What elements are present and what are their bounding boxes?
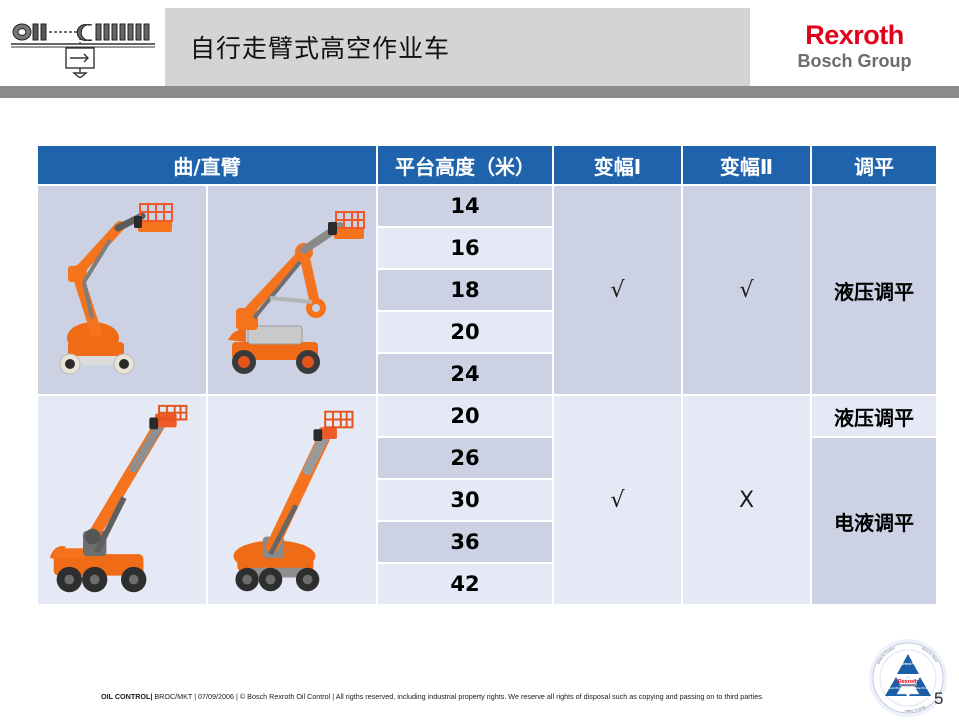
- oil-control-logo-box: [0, 8, 165, 86]
- column-header-luff2: 变幅Ⅱ: [683, 146, 810, 184]
- height-value: 36: [378, 522, 552, 562]
- column-header-luff1: 变幅Ⅰ: [554, 146, 681, 184]
- height-value: 20: [378, 312, 552, 352]
- column-header-arm: 曲/直臂: [38, 146, 376, 184]
- height-value: 26: [378, 438, 552, 478]
- height-value: 16: [378, 228, 552, 268]
- height-value: 42: [378, 564, 552, 604]
- machine-image-articulating-wheeled: [208, 186, 376, 394]
- leveling-value: 液压调平: [812, 396, 936, 436]
- height-value: 20: [378, 396, 552, 436]
- footer-bold-prefix: OIL CONTROL|: [101, 692, 152, 701]
- column-header-level: 调平: [812, 146, 936, 184]
- specification-table: 曲/直臂 平台高度（米） 变幅Ⅰ 变幅Ⅱ 调平: [36, 144, 938, 606]
- page-title: 自行走臂式高空作业车: [190, 8, 450, 86]
- header-under-strip: [0, 98, 959, 104]
- footer-body: BROC/MKT | 07/09/2006 | © Bosch Rexroth …: [152, 692, 763, 701]
- luff1-mark: √: [554, 186, 681, 394]
- oil-control-logo: [8, 16, 158, 78]
- column-header-height: 平台高度（米）: [378, 146, 552, 184]
- header-divider-bar: [0, 86, 959, 98]
- luff1-mark: √: [554, 396, 681, 604]
- machine-image-telescopic-tall: [208, 396, 376, 604]
- articulating-boom-lift-wheeled-illustration: [208, 190, 376, 390]
- footer-copyright: OIL CONTROL| BROC/MKT | 07/09/2006 | © B…: [101, 692, 771, 702]
- machine-image-telescopic-short: [38, 396, 206, 604]
- header-top-strip: [0, 0, 959, 8]
- badge-top-triangle-label: Competent People: [894, 662, 922, 666]
- page-header: 自行走臂式高空作业车 Rexroth Bosch Group: [0, 0, 959, 104]
- bosch-group-wordmark: Bosch Group: [797, 51, 911, 73]
- leveling-value: 电液调平: [812, 438, 936, 604]
- page-number: 5: [934, 689, 943, 709]
- table-header-row: 曲/直臂 平台高度（米） 变幅Ⅰ 变幅Ⅱ 调平: [38, 146, 936, 184]
- badge-right-triangle-label: Innovative Products: [906, 686, 935, 690]
- luff2-mark: X: [683, 396, 810, 604]
- height-value: 18: [378, 270, 552, 310]
- rexroth-wordmark: Rexroth: [805, 22, 904, 49]
- articulating-boom-lift-compact-illustration: [38, 190, 206, 390]
- telescopic-boom-lift-tall-illustration: [208, 400, 376, 600]
- height-value: 30: [378, 480, 552, 520]
- rexroth-logo-box: Rexroth Bosch Group: [750, 8, 959, 86]
- height-value: 24: [378, 354, 552, 394]
- telescopic-boom-lift-short-illustration: [38, 400, 206, 600]
- table-row: 20 √ X 液压调平: [38, 396, 936, 436]
- leveling-value: 液压调平: [812, 186, 936, 394]
- machine-image-articulating-compact: [38, 186, 206, 394]
- height-value: 14: [378, 186, 552, 226]
- luff2-mark: √: [683, 186, 810, 394]
- table-row: 14 √ √ 液压调平: [38, 186, 936, 226]
